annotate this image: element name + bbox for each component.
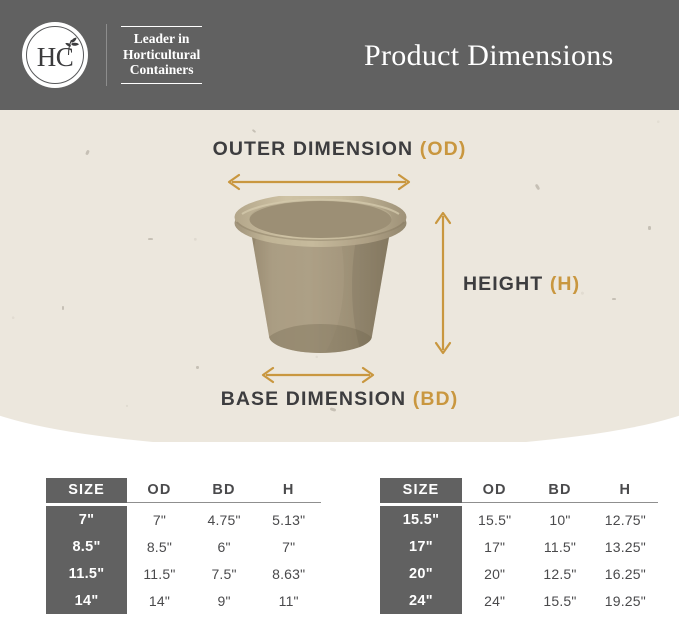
column-header-size: SIZE [46, 478, 127, 503]
cell-size: 20" [380, 560, 462, 587]
height-label: HEIGHT (H) [463, 273, 580, 296]
tagline-line-1: Leader in [123, 31, 200, 47]
cell-od: 11.5" [127, 560, 192, 587]
hc-logo-icon: HC [22, 22, 88, 88]
page-title: Product Dimensions [364, 39, 614, 73]
cell-bd: 6" [192, 533, 257, 560]
speck [612, 298, 616, 300]
dimension-table-left: SIZE OD BD H 7" 7" 4.75" 5.13" 8.5" 8.5" [46, 478, 321, 614]
table-row: 11.5" 11.5" 7.5" 8.63" [46, 560, 321, 587]
cell-h: 11" [256, 587, 321, 614]
base-dimension-text: BASE DIMENSION [221, 388, 407, 410]
cell-bd: 7.5" [192, 560, 257, 587]
column-header-size: SIZE [380, 478, 462, 503]
brand-tagline: Leader in Horticultural Containers [121, 21, 202, 89]
cell-size: 8.5" [46, 533, 127, 560]
column-header-h: H [256, 478, 321, 503]
cell-h: 16.25" [593, 560, 658, 587]
table-row: 20" 20" 12.5" 16.25" [380, 560, 658, 587]
column-header-od: OD [462, 478, 527, 503]
cell-size: 15.5" [380, 506, 462, 533]
speck [196, 366, 199, 369]
cell-size: 7" [46, 506, 127, 533]
cell-od: 15.5" [462, 506, 527, 533]
brand-lockup: HC Leader in Horticultural Containers [22, 21, 202, 89]
base-dimension-label: BASE DIMENSION (BD) [0, 388, 679, 411]
cell-size: 11.5" [46, 560, 127, 587]
cell-h: 12.75" [593, 506, 658, 533]
cell-od: 7" [127, 506, 192, 533]
column-header-od: OD [127, 478, 192, 503]
brand-divider [106, 24, 107, 86]
tagline-line-2: Horticultural [123, 47, 200, 63]
table-row: 8.5" 8.5" 6" 7" [46, 533, 321, 560]
cell-bd: 12.5" [527, 560, 592, 587]
height-arrow-icon [430, 208, 456, 358]
cell-od: 8.5" [127, 533, 192, 560]
column-header-bd: BD [527, 478, 592, 503]
diagram-panel: OUTER DIMENSION (OD) [0, 110, 679, 442]
planter-pot-illustration [228, 196, 413, 366]
speck [148, 238, 153, 240]
cell-bd: 10" [527, 506, 592, 533]
table-row: 24" 24" 15.5" 19.25" [380, 587, 658, 614]
base-dimension-code: (BD) [413, 388, 459, 410]
cell-h: 8.63" [256, 560, 321, 587]
cell-h: 13.25" [593, 533, 658, 560]
cell-od: 24" [462, 587, 527, 614]
table-row: 14" 14" 9" 11" [46, 587, 321, 614]
dimension-tables: SIZE OD BD H 7" 7" 4.75" 5.13" 8.5" 8.5" [0, 442, 679, 636]
cell-bd: 15.5" [527, 587, 592, 614]
base-dimension-arrow-icon [258, 365, 378, 385]
outer-dimension-code: (OD) [420, 138, 467, 160]
tagline-line-3: Containers [123, 62, 200, 78]
column-header-bd: BD [192, 478, 257, 503]
leaf-sprig-icon [59, 37, 81, 57]
column-header-h: H [593, 478, 658, 503]
height-code: (H) [550, 273, 580, 295]
cell-h: 5.13" [256, 506, 321, 533]
cell-od: 14" [127, 587, 192, 614]
height-text: HEIGHT [463, 273, 543, 295]
table-row: 15.5" 15.5" 10" 12.75" [380, 506, 658, 533]
outer-dimension-arrow-icon [224, 172, 414, 192]
table-header-row: SIZE OD BD H [46, 478, 321, 503]
cell-size: 14" [46, 587, 127, 614]
tagline-rule-bottom [121, 83, 202, 84]
cell-od: 17" [462, 533, 527, 560]
cell-od: 20" [462, 560, 527, 587]
speck [648, 226, 651, 230]
dimension-table-right: SIZE OD BD H 15.5" 15.5" 10" 12.75" 17" … [380, 478, 658, 614]
cell-h: 7" [256, 533, 321, 560]
cell-bd: 9" [192, 587, 257, 614]
outer-dimension-label: OUTER DIMENSION (OD) [0, 138, 679, 161]
table-header-row: SIZE OD BD H [380, 478, 658, 503]
cell-size: 17" [380, 533, 462, 560]
cell-bd: 11.5" [527, 533, 592, 560]
speck [62, 306, 64, 310]
outer-dimension-text: OUTER DIMENSION [213, 138, 414, 160]
cell-bd: 4.75" [192, 506, 257, 533]
cell-h: 19.25" [593, 587, 658, 614]
table-row: 17" 17" 11.5" 13.25" [380, 533, 658, 560]
header-bar: HC Leader in Horticultural Containers Pr… [0, 0, 679, 110]
table-row: 7" 7" 4.75" 5.13" [46, 506, 321, 533]
cell-size: 24" [380, 587, 462, 614]
